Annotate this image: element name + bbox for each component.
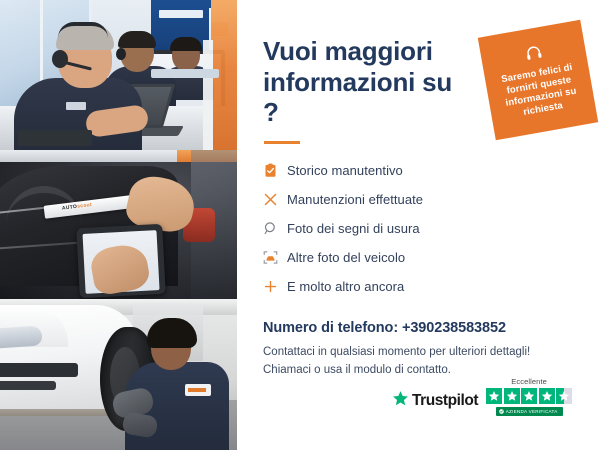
trustpilot-wordmark: Trustpilot [412,392,478,410]
photo-wheel-inspection [0,299,237,450]
trustpilot-stars [486,388,572,404]
star-half-icon [556,388,572,404]
verified-badge-text: AZIENDA VERIFICATA [506,409,558,414]
page-title-line2: informazioni su ? [263,67,452,128]
contact-line-1: Contattaci in qualsiasi momento per ulte… [263,346,530,358]
trustpilot-widget[interactable]: Trustpilot Eccellente [392,377,572,416]
verified-check-icon [499,409,504,414]
photo-damage-inspection: AUTOscout [0,150,237,299]
star-icon [521,388,537,404]
headset-icon [523,43,544,68]
verified-badge: AZIENDA VERIFICATA [496,407,563,416]
trustpilot-logo: Trustpilot [392,390,478,416]
page-title: Vuoi maggiori informazioni su ? [263,36,468,128]
contact-description: Contattaci in qualsiasi momento per ulte… [263,344,578,380]
star-icon [539,388,555,404]
trustpilot-rating: Eccellente [486,377,572,416]
phone-number[interactable]: Numero di telefono: +390238583852 [263,320,578,336]
tools-wrench-icon [263,192,287,207]
photo-column: AUTOscout [0,0,237,450]
promo-card: AUTOscout [0,0,600,450]
feature-item: E molto altro ancora [263,272,578,300]
trustpilot-star-icon [392,390,409,412]
plus-icon [263,279,287,294]
magnifier-icon [263,221,287,236]
feature-item: Manutenzioni effettuate [263,185,578,213]
star-icon [504,388,520,404]
page-title-line1: Vuoi maggiori [263,36,433,66]
feature-list: Storico manutentivo Manutenzioni effettu… [263,156,578,300]
feature-label: Altre foto del veicolo [287,250,405,265]
feature-item: Storico manutentivo [263,156,578,184]
feature-item: Altre foto del veicolo [263,243,578,271]
trustpilot-rating-label: Eccellente [511,377,547,386]
clipboard-check-icon [263,163,287,178]
callout-badge: Saremo felici di fornirti queste informa… [478,20,598,140]
content-panel: Vuoi maggiori informazioni su ? Saremo f… [237,0,600,450]
feature-label: Foto dei segni di usura [287,221,420,236]
contact-line-2: Chiamaci o usa il modulo di contatto. [263,364,451,376]
photo-call-centre [0,0,237,150]
feature-label: E molto altro ancora [287,279,404,294]
star-icon [486,388,502,404]
feature-label: Manutenzioni effettuate [287,192,423,207]
car-frame-icon [263,250,287,265]
feature-label: Storico manutentivo [287,163,403,178]
feature-item: Foto dei segni di usura [263,214,578,242]
title-underline-divider [264,141,300,144]
